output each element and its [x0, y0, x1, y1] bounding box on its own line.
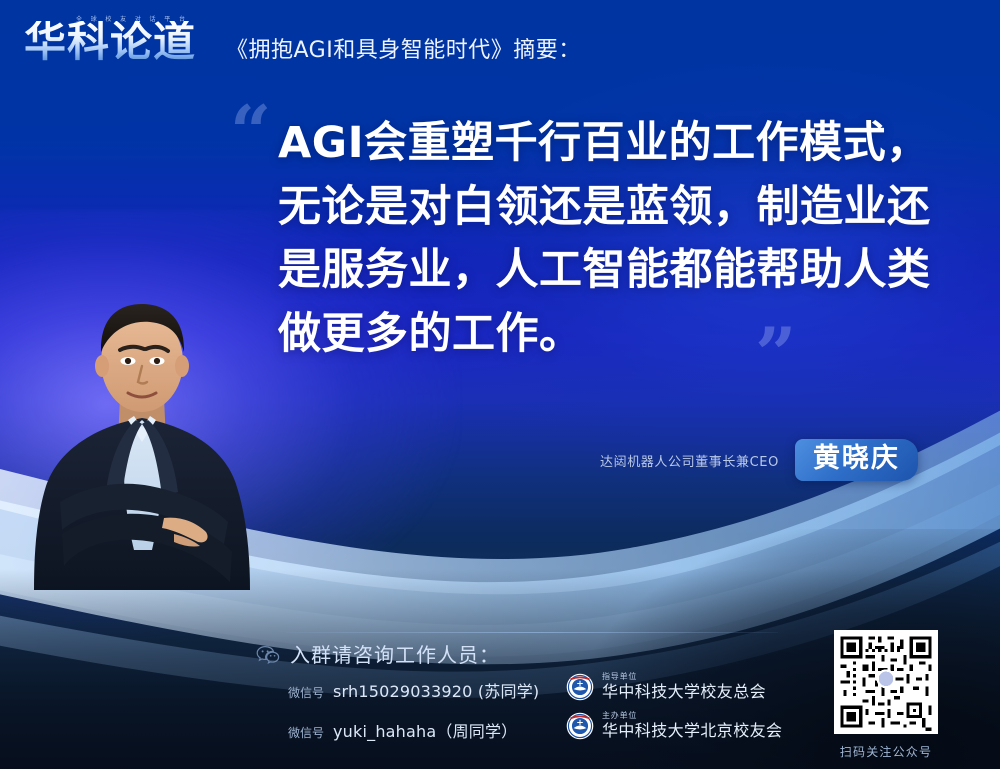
quote-open-mark: “: [230, 96, 271, 168]
org-row-host: 主办单位 华中科技大学北京校友会: [566, 712, 782, 740]
qr-block: 扫码关注公众号: [834, 630, 938, 760]
qr-caption: 扫码关注公众号: [834, 743, 938, 760]
page-title: 《拥抱AGI和具身智能时代》摘要：: [226, 32, 581, 64]
contact-row-2: 微信号 yuki_hahaha（周同学）: [288, 718, 517, 742]
wechat-icon: [256, 645, 280, 665]
org-name: 华中科技大学校友总会: [602, 683, 766, 701]
attribution: 达闼机器人公司董事长兼CEO 黄晓庆: [600, 440, 918, 480]
org-kind: 主办单位: [602, 712, 782, 721]
logo-wordmark: 华科论道: [24, 21, 196, 63]
header: 全 球 校 友 对 话 平 台 华科论道 《拥抱AGI和具身智能时代》摘要：: [0, 0, 1000, 92]
org-kind: 指导单位: [602, 673, 766, 682]
speaker-role: 达闼机器人公司董事长兼CEO: [600, 451, 779, 470]
contact-value[interactable]: yuki_hahaha（周同学）: [333, 718, 517, 742]
footer-heading: 入群请咨询工作人员：: [290, 639, 500, 668]
speaker-name-badge: 黄晓庆: [795, 439, 918, 480]
university-seal-icon: [566, 673, 594, 701]
org-text: 指导单位 华中科技大学校友总会: [602, 673, 766, 700]
org-row-guiding: 指导单位 华中科技大学校友总会: [566, 673, 766, 701]
org-text: 主办单位 华中科技大学北京校友会: [602, 712, 782, 739]
org-name: 华中科技大学北京校友会: [602, 722, 782, 740]
brand-logo[interactable]: 全 球 校 友 对 话 平 台 华科论道: [24, 12, 220, 74]
university-seal-icon: [566, 712, 594, 740]
qr-code-image[interactable]: [834, 630, 938, 734]
footer-divider: [286, 632, 778, 633]
quote-text: AGI会重塑千行百业的工作模式，无论是对白领还是蓝领，制造业还是服务业，人工智能…: [278, 112, 948, 367]
contact-value[interactable]: srh15029033920 (苏同学): [333, 678, 539, 702]
poster-canvas: 全 球 校 友 对 话 平 台 华科论道 《拥抱AGI和具身智能时代》摘要： “…: [0, 0, 1000, 769]
contact-label: 微信号: [288, 684, 324, 701]
contact-label: 微信号: [288, 724, 324, 741]
quote-close-mark: ”: [755, 318, 796, 390]
speaker-portrait: [24, 290, 260, 590]
contact-row-1: 微信号 srh15029033920 (苏同学): [288, 678, 539, 702]
